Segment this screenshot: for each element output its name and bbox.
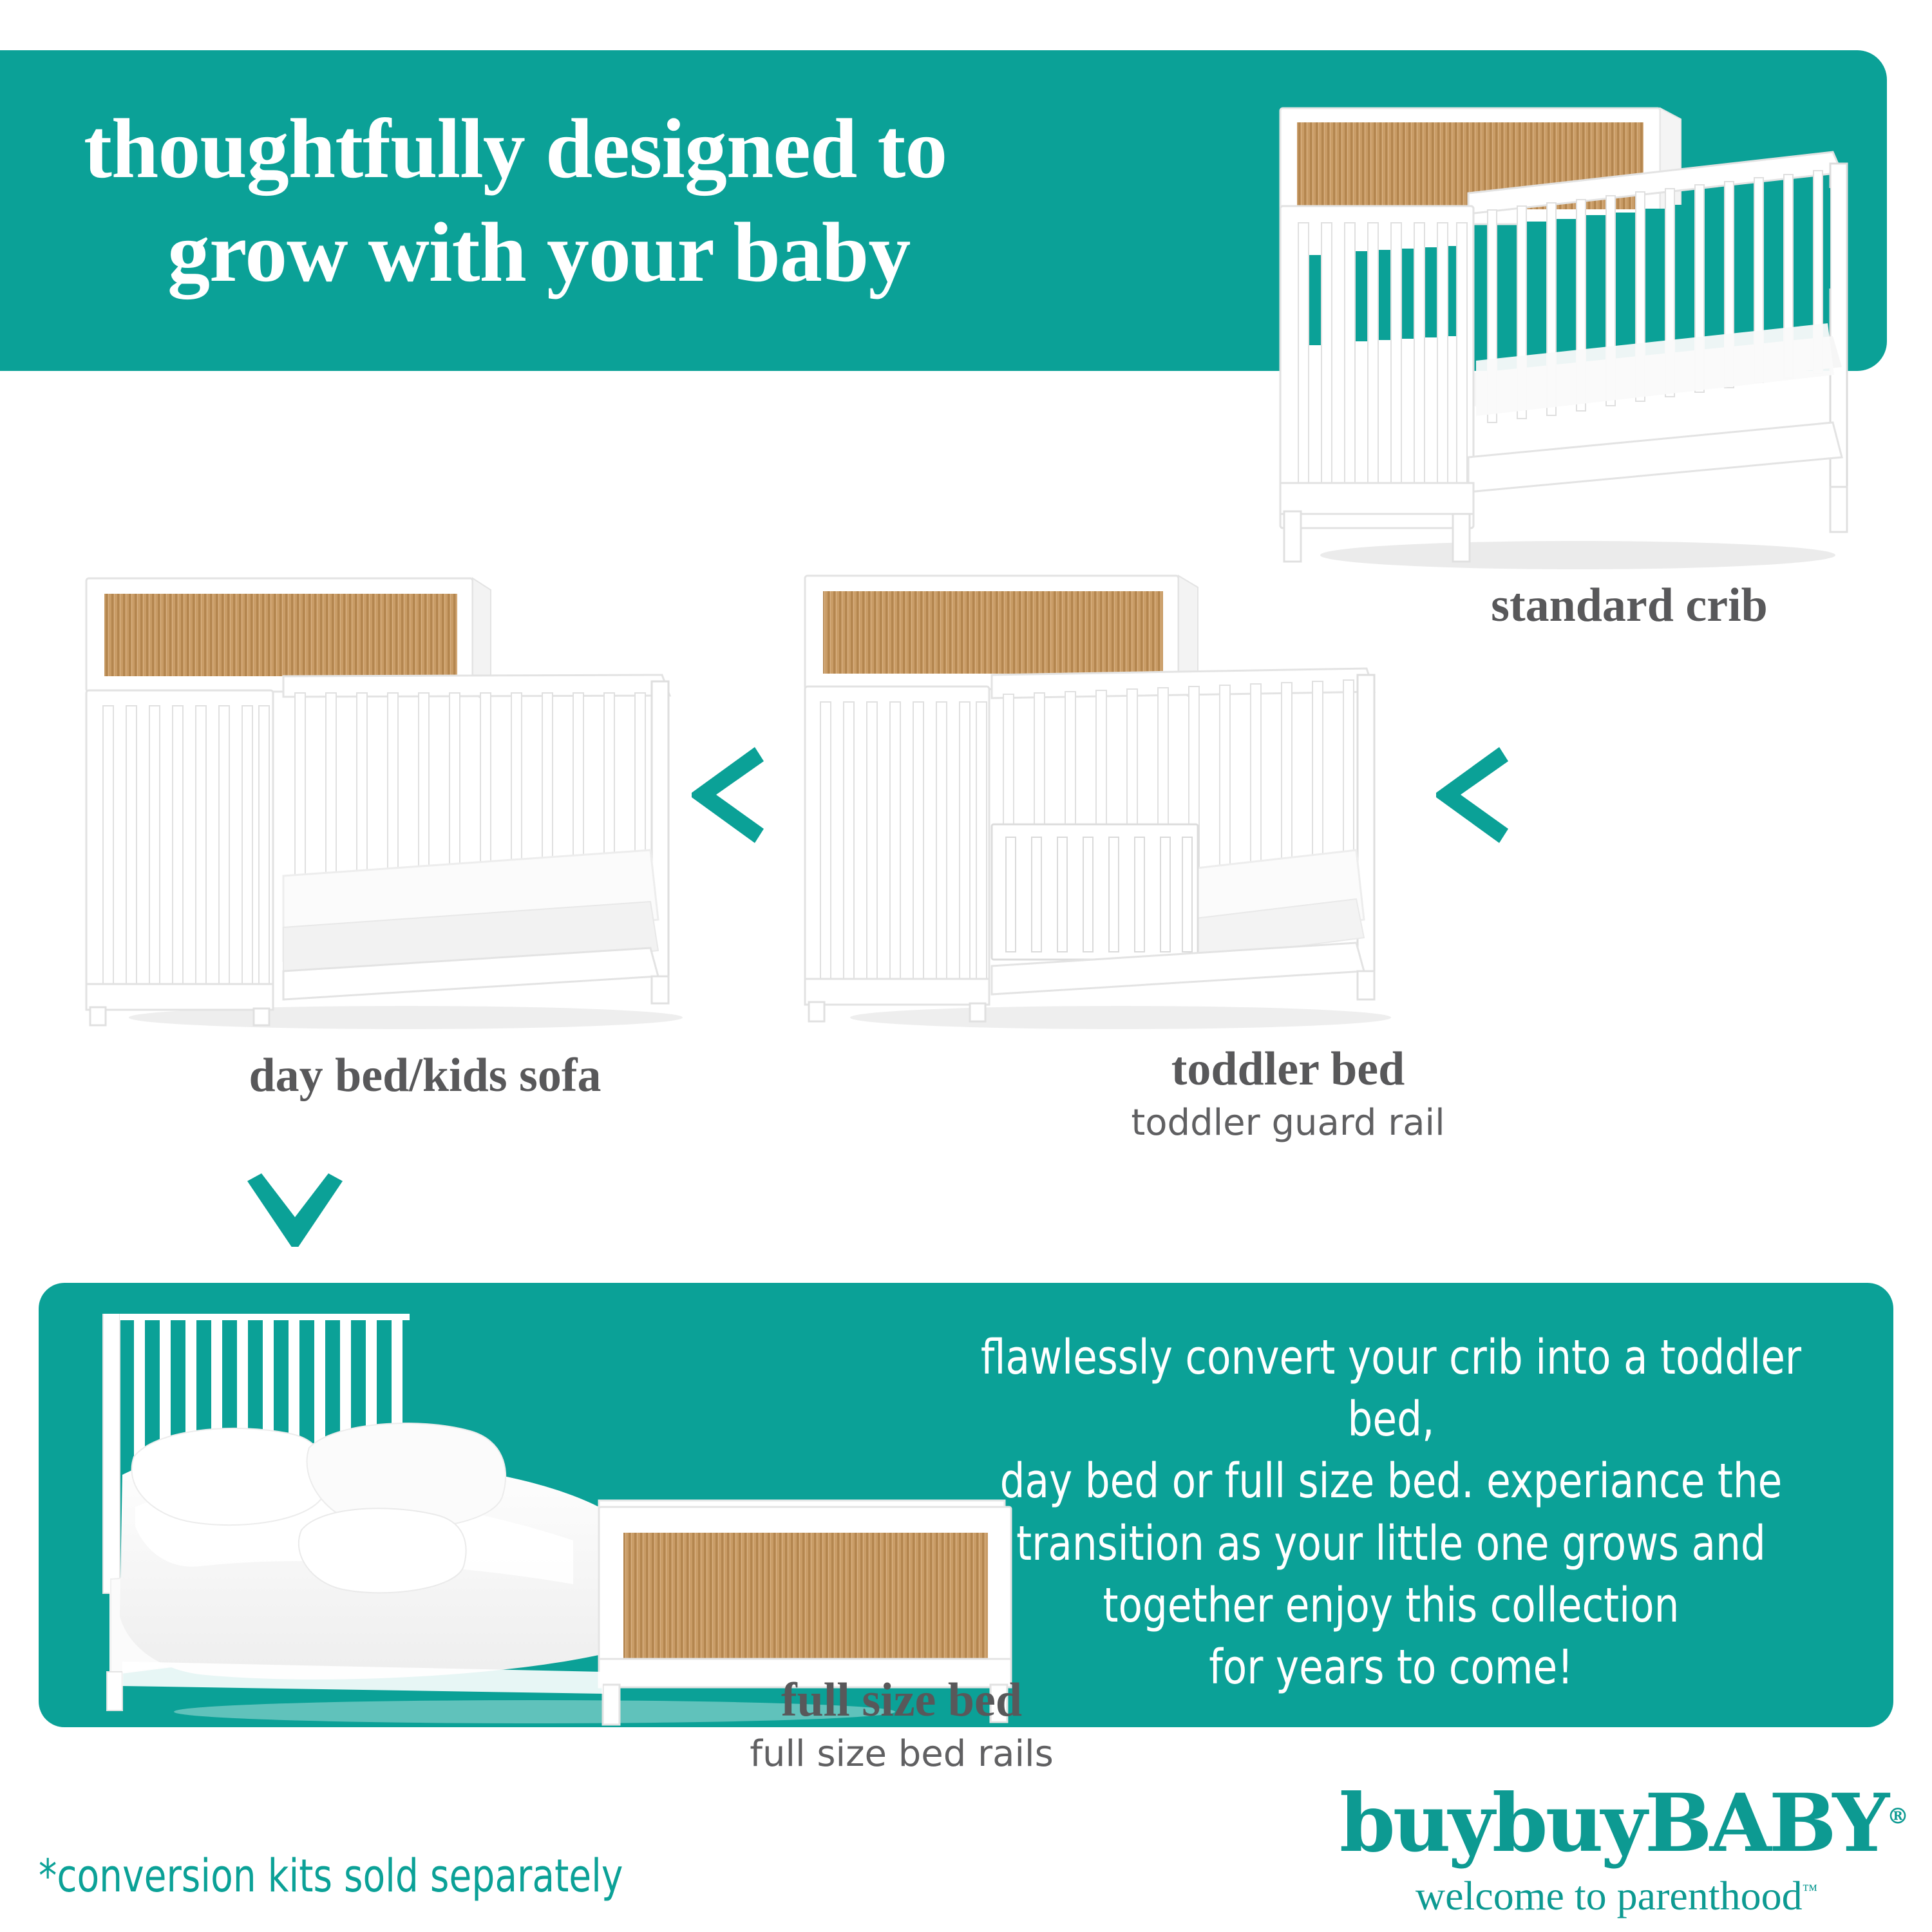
disclaimer-text: *conversion kits sold separately xyxy=(39,1850,623,1902)
caption-title: standard crib xyxy=(1372,580,1887,632)
promo-line-2: day bed or full size bed. experiance the xyxy=(952,1450,1830,1512)
brand-baby: BABY xyxy=(1645,1777,1887,1870)
registered-mark: ® xyxy=(1887,1804,1909,1830)
caption-subtitle: toddler guard rail xyxy=(966,1101,1610,1146)
chevron-left-icon-2 xyxy=(1432,742,1510,848)
brand-tagline-text: welcome to parenthood xyxy=(1416,1873,1803,1918)
header-line-2: grow with your baby xyxy=(84,200,1243,304)
chevron-left-icon xyxy=(688,742,765,848)
caption-toddler-bed: toddler bed toddler guard rail xyxy=(966,1043,1610,1146)
brand-tagline: welcome to parenthood™ xyxy=(1340,1875,1893,1917)
promo-line-4: together enjoy this collection xyxy=(952,1575,1830,1636)
page-title: thoughtfully designed to grow with your … xyxy=(84,97,1243,304)
promo-text: flawlessly convert your crib into a todd… xyxy=(952,1327,1830,1698)
brand-buy-1: buy xyxy=(1340,1777,1492,1870)
infographic-canvas: thoughtfully designed to grow with your … xyxy=(0,0,1932,1932)
caption-standard-crib: standard crib xyxy=(1372,580,1887,632)
caption-title: full size bed xyxy=(580,1674,1224,1727)
trademark-mark: ™ xyxy=(1803,1882,1818,1899)
chevron-down-icon xyxy=(240,1171,349,1247)
brand-buy-2: buy xyxy=(1492,1777,1645,1870)
standard-crib-image xyxy=(1275,97,1855,573)
header-line-1: thoughtfully designed to xyxy=(84,101,947,196)
toddler-bed-image xyxy=(799,567,1417,1030)
caption-full-size-bed: full size bed full size bed rails xyxy=(580,1674,1224,1777)
brand-wordmark: buybuyBABY® xyxy=(1340,1784,1893,1864)
brand-logo: buybuyBABY® welcome to parenthood™ xyxy=(1340,1784,1893,1917)
caption-title: day bed/kids sofa xyxy=(167,1050,683,1102)
caption-day-bed: day bed/kids sofa xyxy=(167,1050,683,1102)
promo-line-1: flawlessly convert your crib into a todd… xyxy=(952,1327,1830,1450)
caption-subtitle: full size bed rails xyxy=(580,1732,1224,1777)
full-size-bed-image xyxy=(84,1314,1037,1726)
day-bed-image xyxy=(71,567,715,1030)
promo-line-3: transition as your little one grows and xyxy=(952,1513,1830,1575)
caption-title: toddler bed xyxy=(966,1043,1610,1095)
